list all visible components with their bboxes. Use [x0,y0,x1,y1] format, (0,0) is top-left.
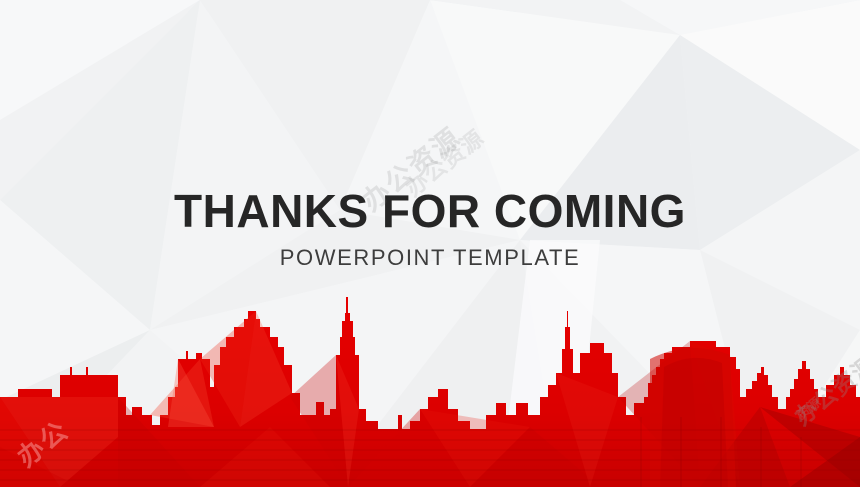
city-skyline-graphic [0,297,860,487]
page-title: THANKS FOR COMING [0,185,860,237]
slide-text-block: THANKS FOR COMING POWERPOINT TEMPLATE [0,185,860,271]
presentation-slide: THANKS FOR COMING POWERPOINT TEMPLATE [0,0,860,487]
drum-building [650,348,736,487]
page-subtitle: POWERPOINT TEMPLATE [0,245,860,271]
